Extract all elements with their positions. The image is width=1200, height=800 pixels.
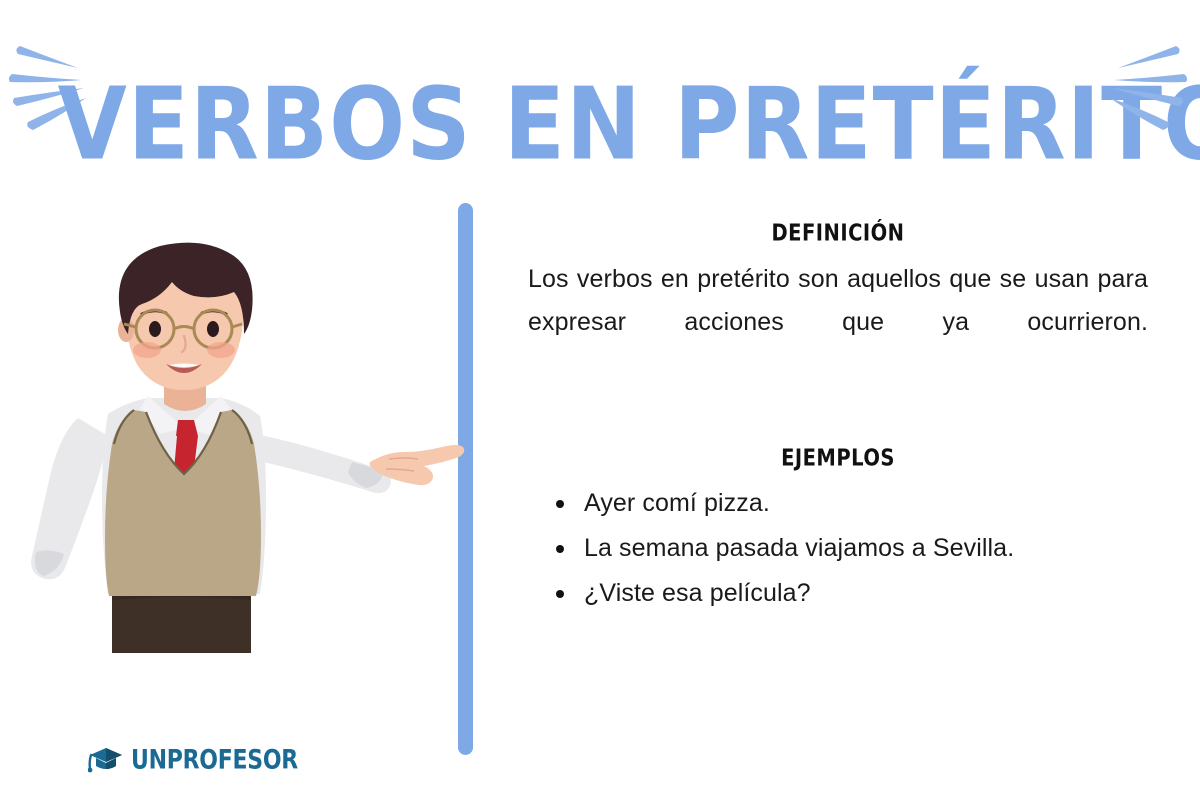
infographic-canvas: VERBOS EN PRETÉRITO	[0, 0, 1200, 800]
brand-logo: UNPROFESOR	[88, 744, 321, 774]
page-title: VERBOS EN PRETÉRITO	[58, 67, 1119, 183]
teacher-character-pointing-right	[8, 238, 478, 653]
list-item: La semana pasada viajamos a Sevilla.	[528, 526, 1148, 571]
list-item-label: La semana pasada viajamos a Sevilla.	[584, 534, 1014, 562]
definition-heading: DEFINICIÓN	[550, 219, 1127, 248]
examples-list: Ayer comí pizza. La semana pasada viajam…	[528, 481, 1148, 616]
list-item: Ayer comí pizza.	[528, 481, 1148, 526]
bullet-icon	[556, 500, 564, 508]
starburst-lines-right	[1104, 28, 1190, 138]
definition-body-text: Los verbos en pretérito son aquellos que…	[528, 258, 1148, 387]
character-eye-left	[149, 321, 161, 337]
list-item-label: Ayer comí pizza.	[584, 489, 770, 517]
character-cheek-left	[133, 342, 161, 358]
graduation-cap-icon	[88, 744, 124, 774]
bullet-icon	[556, 545, 564, 553]
list-item-label: ¿Viste esa película?	[584, 579, 811, 607]
character-cheek-right	[207, 342, 235, 358]
content-panel: DEFINICIÓN Los verbos en pretérito son a…	[528, 220, 1148, 616]
list-item: ¿Viste esa película?	[528, 571, 1148, 616]
character-eye-right	[207, 321, 219, 337]
brand-name: UNPROFESOR	[131, 746, 298, 772]
examples-heading-wrap: EJEMPLOS	[528, 445, 1148, 471]
examples-heading: EJEMPLOS	[550, 444, 1127, 473]
bullet-icon	[556, 590, 564, 598]
title-block: VERBOS EN PRETÉRITO	[0, 0, 1200, 150]
